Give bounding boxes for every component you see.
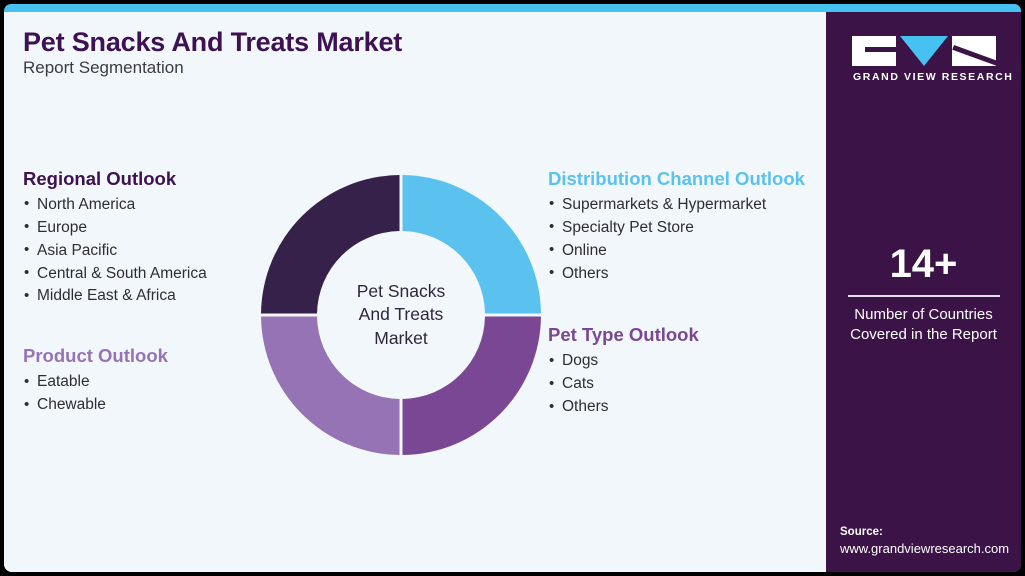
page-subtitle: Report Segmentation [23,58,184,78]
segment-heading-regional: Regional Outlook [23,169,263,190]
logo-v-triangle-icon [900,36,948,66]
left-segment-column: Regional Outlook North America Europe As… [23,169,263,417]
infographic-card: Pet Snacks And Treats Market Report Segm… [0,0,1025,576]
list-item: Others [548,396,824,419]
sidebar-panel: GRAND VIEW RESEARCH 14+ Number of Countr… [826,12,1021,572]
list-item: North America [23,194,263,217]
donut-svg [256,170,546,460]
segment-list-distribution-channel: Supermarkets & Hypermarket Specialty Pet… [548,194,824,286]
stat-caption: Number of Countries Covered in the Repor… [826,305,1021,346]
donut-slice-distribution-channel [403,175,542,313]
segment-list-product: Eatable Chewable [23,371,263,417]
card-body: Pet Snacks And Treats Market Report Segm… [4,12,1021,572]
logo-mark [852,36,996,66]
logo-g-icon [852,36,896,66]
logo-wordmark: GRAND VIEW RESEARCH [853,71,1014,83]
list-item: Specialty Pet Store [548,217,824,240]
list-item: Europe [23,217,263,240]
segment-list-pet-type: Dogs Cats Others [548,350,824,419]
source-block: Source: www.grandviewresearch.com [840,526,1020,556]
grand-view-research-logo: GRAND VIEW RESEARCH [852,36,996,82]
logo-r-icon [952,36,996,66]
source-url: www.grandviewresearch.com [840,541,1020,556]
segmentation-donut-chart: Pet Snacks And Treats Market [256,170,546,460]
segment-list-regional: North America Europe Asia Pacific Centra… [23,194,263,309]
page-title: Pet Snacks And Treats Market [23,27,402,58]
stat-number: 14+ [826,244,1021,284]
list-item: Cats [548,373,824,396]
donut-slice-pet-type [403,317,542,456]
segment-pet-type-outlook: Pet Type Outlook Dogs Cats Others [548,325,824,419]
stat-divider [848,295,1000,297]
list-item: Others [548,263,824,286]
main-panel: Pet Snacks And Treats Market Report Segm… [4,12,826,572]
list-item: Central & South America [23,263,263,286]
segment-heading-product: Product Outlook [23,346,263,367]
donut-slice-product [261,317,399,456]
list-item: Eatable [23,371,263,394]
segment-distribution-channel-outlook: Distribution Channel Outlook Supermarket… [548,169,824,285]
segment-product-outlook: Product Outlook Eatable Chewable [23,346,263,417]
country-count-stat: 14+ Number of Countries Covered in the R… [826,244,1021,346]
list-item: Online [548,240,824,263]
stat-caption-line: Number of Countries [826,305,1021,325]
source-label: Source: [840,526,1020,538]
list-item: Middle East & Africa [23,285,263,308]
list-item: Asia Pacific [23,240,263,263]
segment-regional-outlook: Regional Outlook North America Europe As… [23,169,263,308]
list-item: Dogs [548,350,824,373]
list-item: Supermarkets & Hypermarket [548,194,824,217]
donut-slice-regional [261,175,399,313]
right-segment-column: Distribution Channel Outlook Supermarket… [548,169,824,419]
list-item: Chewable [23,394,263,417]
segment-heading-pet-type: Pet Type Outlook [548,325,824,346]
stat-caption-line: Covered in the Report [826,325,1021,345]
segment-heading-distribution-channel: Distribution Channel Outlook [548,169,824,190]
